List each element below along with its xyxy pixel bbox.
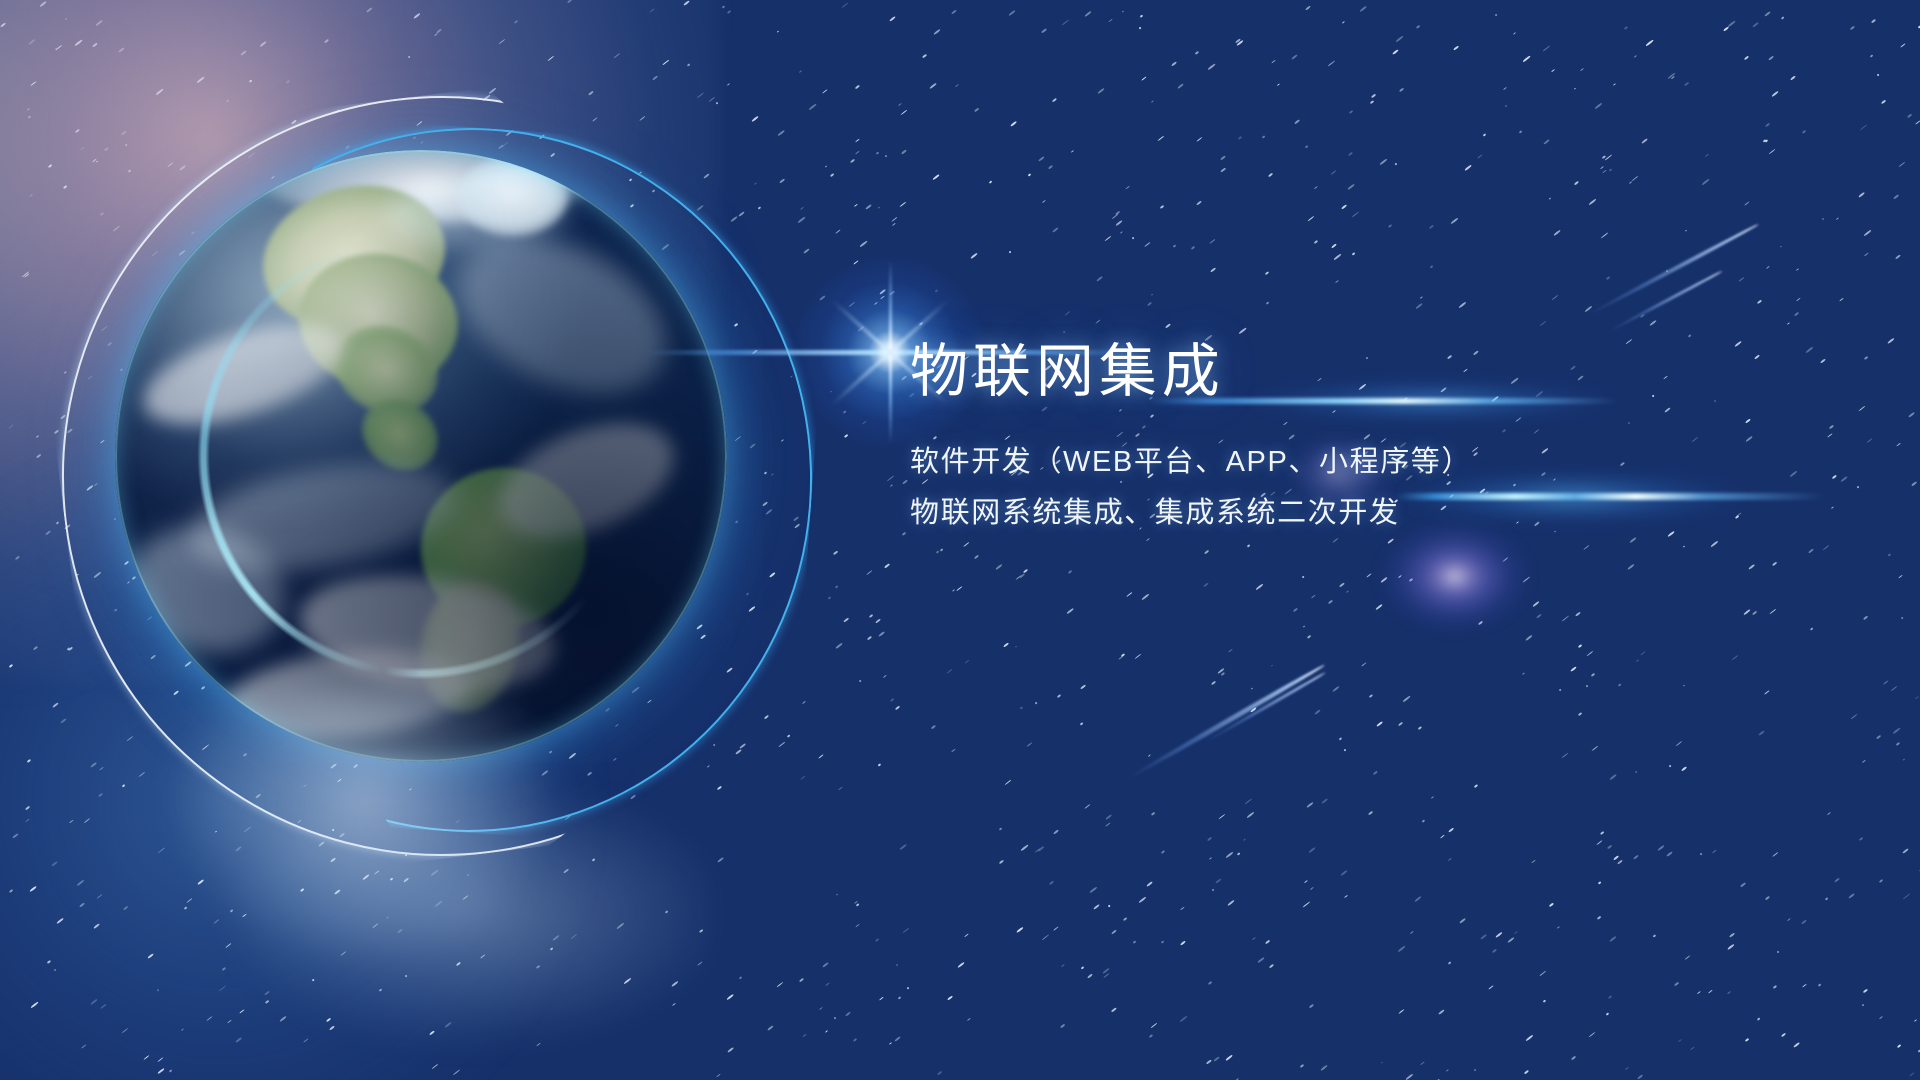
meteor-streak-lower-center (1124, 663, 1326, 782)
globe-rim-highlight (111, 146, 731, 766)
meteor-streak-upper-right-2 (1607, 270, 1723, 334)
flare-vertical-spike (889, 260, 892, 444)
banner-subtitle-1: 软件开发（WEB平台、APP、小程序等） (910, 439, 1670, 486)
page-title: 物联网集成 (910, 340, 1670, 405)
meteor-streak-upper-right (1585, 222, 1759, 317)
banner-copy: 物联网集成 软件开发（WEB平台、APP、小程序等） 物联网系统集成、集成系统二… (910, 340, 1670, 537)
hero-banner: 物联网集成 软件开发（WEB平台、APP、小程序等） 物联网系统集成、集成系统二… (0, 0, 1920, 1080)
earth-globe (115, 150, 727, 762)
banner-subtitle-2: 物联网系统集成、集成系统二次开发 (910, 490, 1670, 537)
meteor-streak-lower-center-2 (1204, 671, 1327, 744)
